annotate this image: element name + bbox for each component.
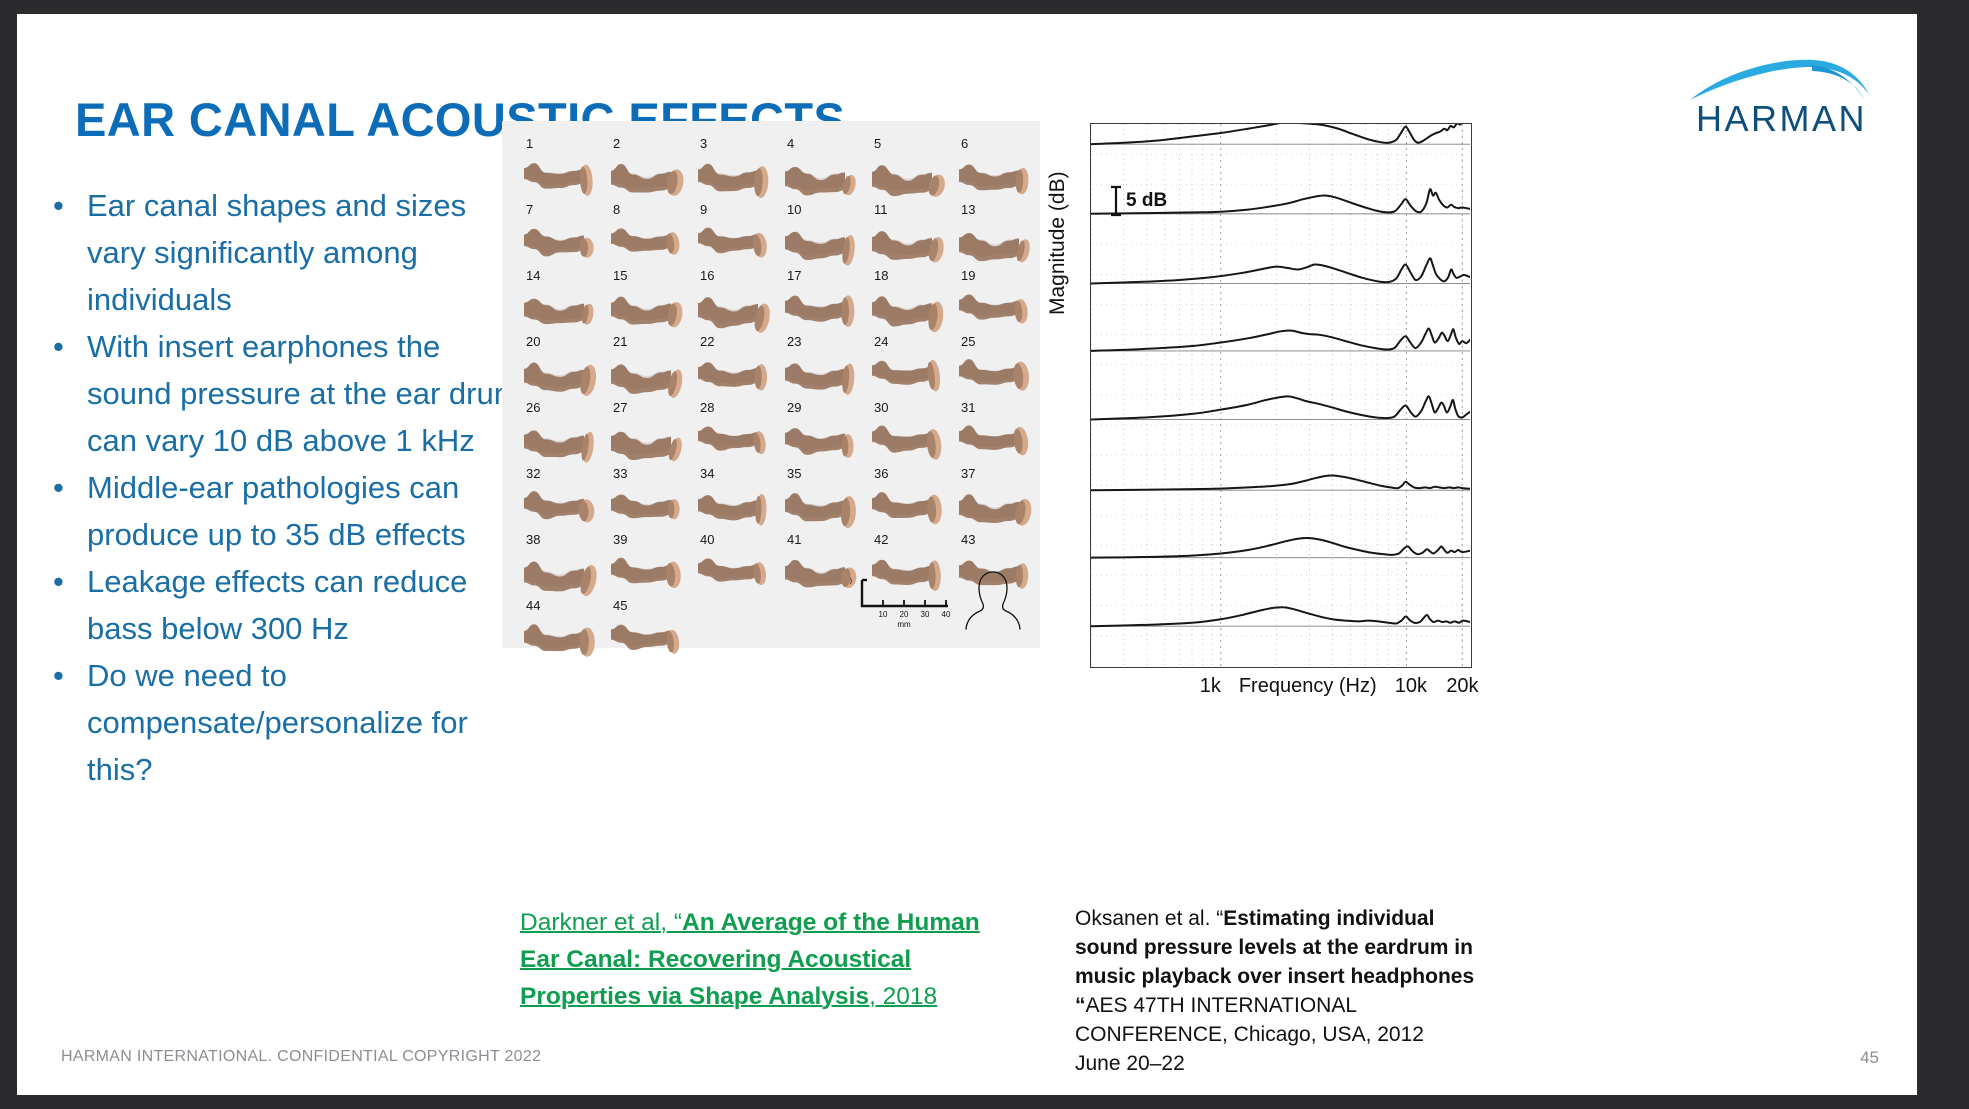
specimen-number: 35 — [787, 467, 801, 481]
ear-canal-specimen: 9 — [694, 205, 781, 271]
specimen-number: 39 — [613, 533, 627, 547]
bullet-marker: • — [43, 558, 87, 605]
harman-swoosh-icon — [1684, 56, 1879, 102]
specimen-number: 8 — [613, 203, 620, 217]
ear-canal-shape-icon — [870, 351, 948, 399]
ear-canal-shape-icon — [783, 483, 861, 531]
bullet-text: Middle-ear pathologies can produce up to… — [87, 464, 523, 558]
series-curve — [1091, 258, 1470, 283]
ear-canal-specimen: 33 — [607, 469, 694, 535]
specimen-number: 45 — [613, 599, 627, 613]
specimen-number: 30 — [874, 401, 888, 415]
series-curve — [1091, 475, 1470, 490]
ear-canal-shape-icon — [783, 153, 861, 201]
ear-canal-specimen: 25 — [955, 337, 1042, 403]
ear-canal-specimen: 13 — [955, 205, 1042, 271]
specimen-number: 16 — [700, 269, 714, 283]
ear-canal-shape-icon — [696, 219, 774, 267]
bullet-text: Ear canal shapes and sizes vary signific… — [87, 182, 523, 323]
ear-canal-shape-icon — [609, 549, 687, 597]
bullet-list: • Ear canal shapes and sizes vary signif… — [43, 182, 523, 793]
bullet-marker: • — [43, 182, 87, 229]
specimen-number: 28 — [700, 401, 714, 415]
ear-canal-specimen: 7 — [520, 205, 607, 271]
ear-canal-shape-icon — [609, 153, 687, 201]
ear-canal-shape-icon — [783, 417, 861, 465]
ear-canal-specimen: 6 — [955, 139, 1042, 205]
specimen-number: 44 — [526, 599, 540, 613]
ear-canal-shape-icon — [957, 285, 1035, 333]
harman-wordmark: HARMAN — [1684, 98, 1879, 140]
ear-canal-shape-icon — [522, 351, 600, 399]
ear-canal-specimen: 2 — [607, 139, 694, 205]
ear-canal-shape-icon — [783, 285, 861, 333]
ear-canal-shape-icon — [522, 219, 600, 267]
specimen-number: 9 — [700, 203, 707, 217]
ear-canal-specimen: 31 — [955, 403, 1042, 469]
specimen-number: 20 — [526, 335, 540, 349]
specimen-number: 26 — [526, 401, 540, 415]
ear-canal-specimen: 16 — [694, 271, 781, 337]
ear-canal-specimen: 8 — [607, 205, 694, 271]
ear-canal-specimen: 23 — [781, 337, 868, 403]
svg-text:10: 10 — [850, 577, 853, 586]
specimen-number: 7 — [526, 203, 533, 217]
specimen-number: 29 — [787, 401, 801, 415]
ear-canal-shape-icon — [609, 219, 687, 267]
ear-canal-shape-icon — [870, 285, 948, 333]
specimen-number: 25 — [961, 335, 975, 349]
bullet-marker: • — [43, 464, 87, 511]
caption-oksanen: Oksanen et al. “Estimating individual so… — [1075, 904, 1475, 1078]
chart-plot-area: 5 dB — [1090, 123, 1472, 668]
ear-canal-shape-icon — [783, 351, 861, 399]
ear-canal-shape-icon — [783, 219, 861, 267]
ear-canal-shape-icon — [696, 549, 774, 597]
chart-y-axis-label: Magnitude (dB) — [1046, 171, 1070, 315]
ear-canal-specimen: 36 — [868, 469, 955, 535]
bullet-marker: • — [43, 323, 87, 370]
ear-canal-specimen: 5 — [868, 139, 955, 205]
specimen-number: 17 — [787, 269, 801, 283]
x-tick-20k: 20k — [1446, 675, 1478, 698]
specimen-number: 22 — [700, 335, 714, 349]
ear-canal-specimen: 11 — [868, 205, 955, 271]
ear-canal-shape-icon — [696, 483, 774, 531]
ear-canal-specimen: 18 — [868, 271, 955, 337]
specimen-number: 34 — [700, 467, 714, 481]
series-curve — [1091, 607, 1470, 626]
specimen-number: 4 — [787, 137, 794, 151]
specimen-number: 21 — [613, 335, 627, 349]
chart-x-tick-labels: 1k Frequency (Hz) 10k 20k — [1090, 675, 1472, 711]
list-item: • Leakage effects can reduce bass below … — [43, 558, 523, 652]
ear-canal-shape-icon — [696, 153, 774, 201]
specimen-number: 24 — [874, 335, 888, 349]
amplitude-scale-marker: 5 dB — [1109, 184, 1167, 218]
ear-canal-specimen: 3 — [694, 139, 781, 205]
ear-canal-specimen: 28 — [694, 403, 781, 469]
ear-canal-shape-icon — [957, 351, 1035, 399]
ear-canal-specimen: 22 — [694, 337, 781, 403]
ear-canal-specimen: 26 — [520, 403, 607, 469]
specimen-number: 3 — [700, 137, 707, 151]
ear-canal-shape-icon — [609, 417, 687, 465]
series-curve — [1091, 328, 1470, 350]
specimen-number: 6 — [961, 137, 968, 151]
chart-x-axis-label: Frequency (Hz) — [1239, 675, 1377, 698]
ear-canal-shape-icon — [609, 351, 687, 399]
specimen-number: 43 — [961, 533, 975, 547]
ear-canal-specimen: 37 — [955, 469, 1042, 535]
specimen-number: 23 — [787, 335, 801, 349]
ear-canal-specimen: 19 — [955, 271, 1042, 337]
ear-canal-shape-icon — [522, 417, 600, 465]
ear-canal-shape-icon — [609, 615, 687, 663]
specimen-number: 13 — [961, 203, 975, 217]
ear-canal-specimen: 44 — [520, 601, 607, 667]
ear-canal-specimen: 32 — [520, 469, 607, 535]
ear-canal-shape-icon — [957, 153, 1035, 201]
ear-canal-specimen: 17 — [781, 271, 868, 337]
ear-canal-row: 323334353637 — [510, 469, 1032, 535]
ear-canal-specimen: 15 — [607, 271, 694, 337]
ear-canal-shape-icon — [696, 417, 774, 465]
ear-canal-shape-icon — [957, 417, 1035, 465]
specimen-number: 36 — [874, 467, 888, 481]
ear-canal-shape-icon — [870, 417, 948, 465]
ear-canal-shape-icon — [696, 285, 774, 333]
db-marker-label: 5 dB — [1126, 190, 1167, 212]
ear-canal-row: 123456 — [510, 139, 1032, 205]
ear-canal-specimen: 38 — [520, 535, 607, 601]
ear-canal-specimen: 20 — [520, 337, 607, 403]
bullet-text: Leakage effects can reduce bass below 30… — [87, 558, 523, 652]
caption-tail: AES 47TH INTERNATIONAL CONFERENCE, Chica… — [1075, 994, 1424, 1075]
bullet-text: With insert earphones the sound pressure… — [87, 323, 523, 464]
ear-canal-shape-icon — [522, 615, 600, 663]
frequency-response-chart: Magnitude (dB) 5 dB 1k Frequency (Hz) 10… — [1052, 119, 1472, 719]
specimen-number: 1 — [526, 137, 533, 151]
specimen-number: 11 — [874, 203, 888, 217]
ear-canal-row: 141516171819 — [510, 271, 1032, 337]
ear-canal-shape-icon — [522, 549, 600, 597]
db-bar-icon — [1109, 184, 1123, 218]
ear-canal-specimen: 1 — [520, 139, 607, 205]
head-silhouette-icon — [964, 569, 1022, 631]
svg-text:10: 10 — [879, 610, 888, 619]
specimen-number: 14 — [526, 269, 540, 283]
series-curve — [1091, 396, 1470, 419]
specimen-number: 42 — [874, 533, 888, 547]
specimen-number: 18 — [874, 269, 888, 283]
ear-canal-specimen: 30 — [868, 403, 955, 469]
caption-lead: Darkner et al, “ — [520, 909, 682, 936]
caption-tail: , 2018 — [869, 983, 937, 1010]
svg-text:30: 30 — [921, 610, 930, 619]
ear-canal-specimen: 35 — [781, 469, 868, 535]
ear-canal-specimen: 4 — [781, 139, 868, 205]
ear-canal-shape-icon — [522, 285, 600, 333]
specimen-number: 40 — [700, 533, 714, 547]
ear-canal-figure: 1234567891011131415161718192021222324252… — [502, 121, 1040, 648]
footer-copyright: HARMAN INTERNATIONAL. CONFIDENTIAL COPYR… — [61, 1048, 541, 1066]
ear-canal-shape-icon — [870, 483, 948, 531]
slide-canvas: EAR CANAL ACOUSTIC EFFECTS HARMAN • Ear … — [17, 14, 1917, 1095]
ear-canal-row: 202122232425 — [510, 337, 1032, 403]
ear-canal-specimen: 10 — [781, 205, 868, 271]
ear-canal-grid: 1234567891011131415161718192021222324252… — [502, 121, 1040, 648]
ear-canal-specimen: 34 — [694, 469, 781, 535]
ear-canal-shape-icon — [696, 351, 774, 399]
ear-canal-shape-icon — [957, 483, 1035, 531]
specimen-number: 2 — [613, 137, 620, 151]
list-item: • Middle-ear pathologies can produce up … — [43, 464, 523, 558]
x-tick-10k: 10k — [1395, 675, 1427, 698]
list-item: • With insert earphones the sound pressu… — [43, 323, 523, 464]
ear-canal-specimen: 39 — [607, 535, 694, 601]
specimen-number: 5 — [874, 137, 881, 151]
scale-bar-icon: 10 10 20 30 40 mm — [850, 576, 960, 628]
specimen-number: 41 — [787, 533, 801, 547]
svg-text:20: 20 — [900, 610, 909, 619]
ear-canal-shape-icon — [609, 285, 687, 333]
caption-darkner[interactable]: Darkner et al, “An Average of the Human … — [520, 904, 990, 1015]
specimen-number: 27 — [613, 401, 627, 415]
ear-canal-specimen: 29 — [781, 403, 868, 469]
page-number: 45 — [1860, 1048, 1879, 1068]
ear-canal-specimen: 27 — [607, 403, 694, 469]
specimen-number: 33 — [613, 467, 627, 481]
specimen-number: 10 — [787, 203, 801, 217]
list-item: • Ear canal shapes and sizes vary signif… — [43, 182, 523, 323]
ear-canal-specimen: 40 — [694, 535, 781, 601]
ear-canal-row: 262728293031 — [510, 403, 1032, 469]
ear-canal-specimen: 24 — [868, 337, 955, 403]
specimen-number: 19 — [961, 269, 975, 283]
ear-canal-shape-icon — [609, 483, 687, 531]
svg-text:mm: mm — [897, 620, 911, 628]
ear-canal-specimen: 45 — [607, 601, 694, 667]
specimen-number: 32 — [526, 467, 540, 481]
bullet-text: Do we need to compensate/personalize for… — [87, 652, 523, 793]
x-tick-1k: 1k — [1200, 675, 1221, 698]
ear-canal-shape-icon — [957, 219, 1035, 267]
caption-lead: Oksanen et al. “ — [1075, 907, 1223, 930]
ear-canal-specimen: 21 — [607, 337, 694, 403]
specimen-number: 15 — [613, 269, 627, 283]
ear-canal-shape-icon — [870, 219, 948, 267]
harman-logo: HARMAN — [1684, 56, 1879, 138]
ear-canal-shape-icon — [522, 153, 600, 201]
series-curve — [1091, 124, 1470, 144]
specimen-number: 37 — [961, 467, 975, 481]
ear-canal-specimen: 14 — [520, 271, 607, 337]
ear-canal-shape-icon — [870, 153, 948, 201]
svg-text:40: 40 — [942, 610, 951, 619]
specimen-number: 38 — [526, 533, 540, 547]
bullet-marker: • — [43, 652, 87, 699]
list-item: • Do we need to compensate/personalize f… — [43, 652, 523, 793]
ear-canal-shape-icon — [522, 483, 600, 531]
specimen-number: 31 — [961, 401, 975, 415]
ear-canal-row: 789101113 — [510, 205, 1032, 271]
series-curve — [1091, 538, 1470, 558]
